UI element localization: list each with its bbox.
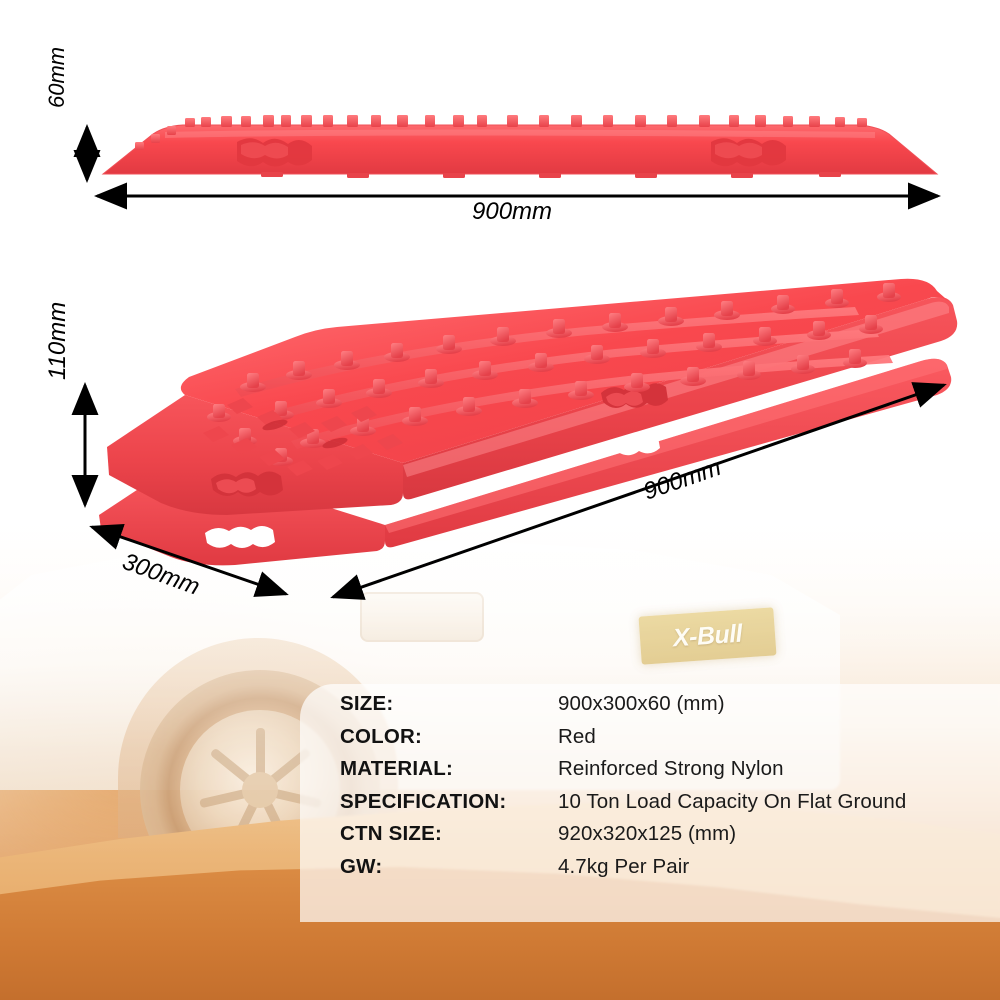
- dimension-label-110mm: 110mm: [44, 302, 72, 380]
- spec-label: COLOR:: [340, 725, 558, 749]
- dimension-label-900mm-top: 900mm: [472, 198, 552, 226]
- spec-value: 10 Ton Load Capacity On Flat Ground: [558, 790, 906, 814]
- spec-row: MATERIAL:Reinforced Strong Nylon: [340, 757, 1000, 790]
- spec-value: Reinforced Strong Nylon: [558, 757, 784, 781]
- spec-row: GW:4.7kg Per Pair: [340, 855, 1000, 888]
- dimension-label-60mm: 60mm: [44, 47, 70, 108]
- xbull-logo-plate: X-Bull: [638, 607, 776, 664]
- spec-label: SPECIFICATION:: [340, 790, 558, 814]
- spec-row: SIZE:900x300x60 (mm): [340, 692, 1000, 725]
- spec-label: GW:: [340, 855, 558, 879]
- xbull-logo-text: X-Bull: [638, 607, 776, 664]
- spec-row: CTN SIZE:920x320x125 (mm): [340, 822, 1000, 855]
- spec-label: SIZE:: [340, 692, 558, 716]
- specification-panel: SIZE:900x300x60 (mm)COLOR:RedMATERIAL:Re…: [300, 684, 1000, 922]
- spec-row: COLOR:Red: [340, 725, 1000, 758]
- product-perspective-render: [85, 265, 965, 570]
- spec-value: Red: [558, 725, 596, 749]
- spec-value: 920x320x125 (mm): [558, 822, 736, 846]
- spec-label: CTN SIZE:: [340, 822, 558, 846]
- product-spec-image: X-Bull: [0, 0, 1000, 1000]
- spec-value: 900x300x60 (mm): [558, 692, 725, 716]
- product-side-profile-render: [95, 112, 945, 184]
- spec-row: SPECIFICATION:10 Ton Load Capacity On Fl…: [340, 790, 1000, 823]
- spec-label: MATERIAL:: [340, 757, 558, 781]
- spec-value: 4.7kg Per Pair: [558, 855, 689, 879]
- specification-table: SIZE:900x300x60 (mm)COLOR:RedMATERIAL:Re…: [340, 692, 1000, 887]
